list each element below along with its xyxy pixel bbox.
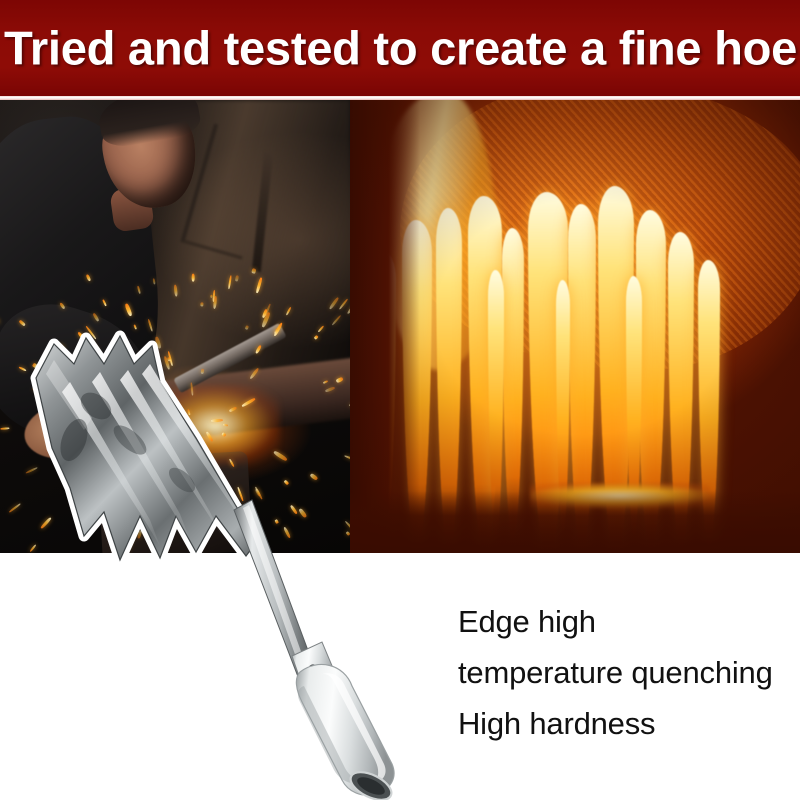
feature-text-block: Edge high temperature quenching High har…: [458, 596, 794, 749]
product-feature-graphic: Tried and tested to create a fine hoe: [0, 0, 800, 800]
rivet-icon: [308, 664, 317, 673]
rivet-hole-icon: [310, 666, 314, 670]
feature-line-2: temperature quenching: [458, 647, 794, 698]
handle-end-opening: [346, 766, 395, 800]
blacksmith-forging-photo: [0, 100, 350, 553]
handle-bore-icon: [355, 774, 388, 799]
header-banner: Tried and tested to create a fine hoe: [0, 0, 800, 96]
feature-line-1: Edge high: [458, 596, 794, 647]
banner-title: Tried and tested to create a fine hoe: [4, 25, 797, 72]
photo-strip: [0, 100, 800, 553]
molten-metal-furnace-photo: [350, 100, 800, 553]
hot-metal-glow: [150, 385, 280, 465]
handle-highlight: [318, 673, 386, 783]
feature-line-3: High hardness: [458, 698, 794, 749]
hoe-handle-socket: [296, 664, 394, 795]
handle-shadow: [298, 686, 364, 783]
hoe-collar: [292, 642, 338, 696]
anvil: [97, 451, 252, 553]
furnace-vignette: [350, 100, 800, 553]
